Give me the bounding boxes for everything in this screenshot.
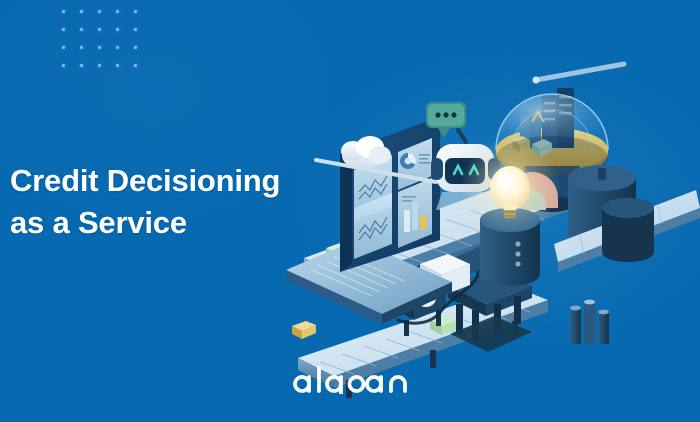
cylinder-cluster [570, 300, 609, 344]
tank-far-right [602, 198, 654, 262]
grid-dot [80, 46, 83, 49]
logo-wordmark-glyphs [295, 368, 405, 394]
grid-dot [80, 28, 83, 31]
grid-dot [134, 28, 137, 31]
grid-dot [116, 64, 119, 67]
grid-dot [134, 46, 137, 49]
grid-dot [134, 64, 137, 67]
grid-dot [62, 10, 65, 13]
grid-dot [98, 10, 101, 13]
grid-dot [134, 10, 137, 13]
grid-dot [116, 28, 119, 31]
grid-dot [116, 10, 119, 13]
grid-dot [62, 46, 65, 49]
algoan-logo[interactable] [291, 364, 409, 394]
grid-dot [62, 64, 65, 67]
grid-dot [80, 64, 83, 67]
antenna-rod [532, 64, 624, 84]
grid-dot [98, 28, 101, 31]
grid-dot [116, 46, 119, 49]
light-bulb [460, 138, 560, 234]
grid-dot [62, 28, 65, 31]
grid-dot [98, 64, 101, 67]
hero-banner: Credit Decisioning as a Service [0, 0, 700, 422]
grid-dot [80, 10, 83, 13]
parcel-gold [292, 321, 316, 339]
grid-dot [98, 46, 101, 49]
